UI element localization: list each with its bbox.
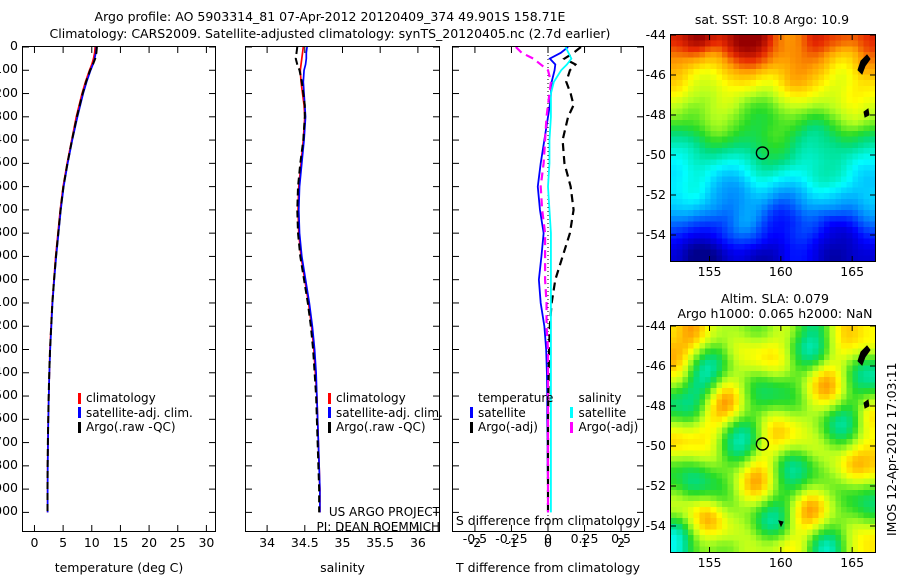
timestamp-label: IMOS 12-Apr-2012 17:03:11: [884, 362, 899, 536]
legend-label: Argo(-adj): [578, 420, 638, 435]
temperature-profile-panel[interactable]: [22, 46, 216, 532]
salinity-profile-panel[interactable]: [245, 46, 440, 532]
legend-item: Argo(.raw -QC): [328, 420, 468, 435]
axis-tick-label: 100: [0, 61, 18, 76]
axis-tick-label: 10: [78, 535, 106, 550]
axis-tick-label: 20: [135, 535, 163, 550]
color-swatch: [328, 393, 331, 404]
legend-item: Argo(-adj): [470, 420, 553, 435]
axis-tick-label: -50: [634, 438, 666, 453]
color-swatch: [470, 407, 473, 418]
salinity-axis-label: salinity: [245, 560, 440, 575]
axis-tick-label: 0: [20, 535, 48, 550]
page-title: Argo profile: AO 5903314_81 07-Apr-2012 …: [0, 8, 660, 42]
axis-tick-label: 500: [0, 154, 18, 169]
axis-tick-label: 155: [694, 555, 726, 570]
sla-map-title: Altim. SLA: 0.079 Argo h1000: 0.065 h200…: [660, 291, 890, 321]
color-swatch: [470, 422, 473, 433]
axis-tick-label: 165: [836, 264, 868, 279]
color-swatch: [328, 422, 331, 433]
axis-tick-label: 1200: [0, 317, 18, 332]
credit-line-2: PI: DEAN ROEMMICH: [258, 520, 440, 535]
axis-tick-label: 1100: [0, 294, 18, 309]
color-swatch: [78, 422, 81, 433]
axis-tick-label: -44: [634, 27, 666, 42]
axis-tick-label: 1000: [0, 271, 18, 286]
legend-label: satellite: [478, 406, 526, 421]
legend-item: satellite-adj. clim.: [328, 406, 468, 421]
temperature-axis-label: temperature (deg C): [22, 560, 216, 575]
color-swatch: [78, 407, 81, 418]
axis-tick-label: 1800: [0, 457, 18, 472]
color-swatch: [328, 407, 331, 418]
axis-tick-label: 1400: [0, 364, 18, 379]
axis-tick-label: 700: [0, 201, 18, 216]
axis-tick-label: 600: [0, 178, 18, 193]
title-line-2: Climatology: CARS2009. Satellite-adjuste…: [0, 25, 660, 42]
axis-tick-label: 34.5: [285, 535, 325, 550]
axis-tick-label: 1600: [0, 410, 18, 425]
temperature-panel-legend: climatology satellite-adj. clim. Argo(.r…: [78, 391, 218, 435]
color-swatch: [570, 407, 573, 418]
axis-tick-label: 400: [0, 131, 18, 146]
axis-tick-label: -52: [634, 478, 666, 493]
axis-tick-label: 35: [323, 535, 363, 550]
color-swatch: [570, 422, 573, 433]
sla-title-line-1: Altim. SLA: 0.079: [660, 291, 890, 306]
axis-tick-label: 35.5: [360, 535, 400, 550]
sst-map-image: [671, 35, 875, 261]
axis-tick-label: -54: [634, 518, 666, 533]
axis-tick-label: 30: [192, 535, 220, 550]
salinity-profile-plot: [246, 47, 439, 531]
temperature-profile-plot: [23, 47, 215, 531]
salinity-panel-legend: climatology satellite-adj. clim. Argo(.r…: [328, 391, 468, 435]
axis-tick-label: 1500: [0, 387, 18, 402]
legend-item: climatology: [78, 391, 218, 406]
legend-item: Argo(.raw -QC): [78, 420, 218, 435]
axis-tick-label: 300: [0, 108, 18, 123]
axis-tick-label: 1300: [0, 341, 18, 356]
sla-title-line-2: Argo h1000: 0.065 h2000: NaN: [660, 306, 890, 321]
difference-profile-panel[interactable]: [452, 46, 644, 532]
sla-map-image: [671, 326, 875, 552]
axis-tick-label: 160: [765, 264, 797, 279]
axis-tick-label: 5: [49, 535, 77, 550]
legend-header: salinity: [570, 391, 638, 406]
axis-tick-label: -48: [634, 107, 666, 122]
legend-label: satellite-adj. clim.: [336, 406, 443, 421]
color-swatch: [78, 393, 81, 404]
legend-header-label: salinity: [578, 391, 621, 406]
axis-tick-label: -46: [634, 67, 666, 82]
axis-tick-label: -50: [634, 147, 666, 162]
axis-tick-label: 1900: [0, 480, 18, 495]
axis-tick-label: 34: [247, 535, 287, 550]
axis-tick-label: 0: [0, 38, 18, 53]
axis-tick-label: -48: [634, 398, 666, 413]
legend-item: satellite: [570, 406, 638, 421]
legend-header-label: temperature: [478, 391, 553, 406]
axis-tick-label: 200: [0, 85, 18, 100]
difference-profile-plot: [453, 47, 643, 531]
sst-map-panel[interactable]: [670, 34, 876, 262]
axis-tick-label: 1700: [0, 434, 18, 449]
axis-tick-label: 900: [0, 247, 18, 262]
project-credit: US ARGO PROJECT PI: DEAN ROEMMICH: [258, 505, 440, 534]
legend-column-salinity: salinity satellite Argo(-adj): [570, 391, 638, 435]
legend-label: Argo(.raw -QC): [336, 420, 426, 435]
axis-tick-label: 25: [164, 535, 192, 550]
axis-tick-label: -46: [634, 358, 666, 373]
legend-item: Argo(-adj): [570, 420, 638, 435]
axis-tick-label: 155: [694, 264, 726, 279]
sla-map-panel[interactable]: [670, 325, 876, 553]
axis-tick-label: 0.5: [599, 531, 643, 546]
legend-label: climatology: [336, 391, 406, 406]
axis-tick-label: 800: [0, 224, 18, 239]
legend-column-temperature: temperature satellite Argo(-adj): [470, 391, 553, 435]
legend-label: climatology: [86, 391, 156, 406]
legend-item: satellite-adj. clim.: [78, 406, 218, 421]
legend-item: climatology: [328, 391, 468, 406]
axis-tick-label: 160: [765, 555, 797, 570]
axis-tick-label: -44: [634, 318, 666, 333]
axis-tick-label: 15: [106, 535, 134, 550]
credit-line-1: US ARGO PROJECT: [258, 505, 440, 520]
t-difference-axis-label: T difference from climatology: [450, 560, 646, 575]
axis-tick-label: 36: [398, 535, 438, 550]
legend-label: satellite: [578, 406, 626, 421]
axis-tick-label: 165: [836, 555, 868, 570]
difference-panel-legend: temperature satellite Argo(-adj) salinit…: [470, 391, 650, 435]
axis-tick-label: 2000: [0, 503, 18, 518]
legend-header: temperature: [470, 391, 553, 406]
axis-tick-label: -52: [634, 187, 666, 202]
legend-label: satellite-adj. clim.: [86, 406, 193, 421]
s-difference-axis-label: S difference from climatology: [450, 513, 646, 528]
legend-label: Argo(-adj): [478, 420, 538, 435]
sst-map-title: sat. SST: 10.8 Argo: 10.9: [660, 12, 884, 27]
legend-label: Argo(.raw -QC): [86, 420, 176, 435]
axis-tick-label: -54: [634, 227, 666, 242]
title-line-1: Argo profile: AO 5903314_81 07-Apr-2012 …: [0, 8, 660, 25]
legend-item: satellite: [470, 406, 553, 421]
